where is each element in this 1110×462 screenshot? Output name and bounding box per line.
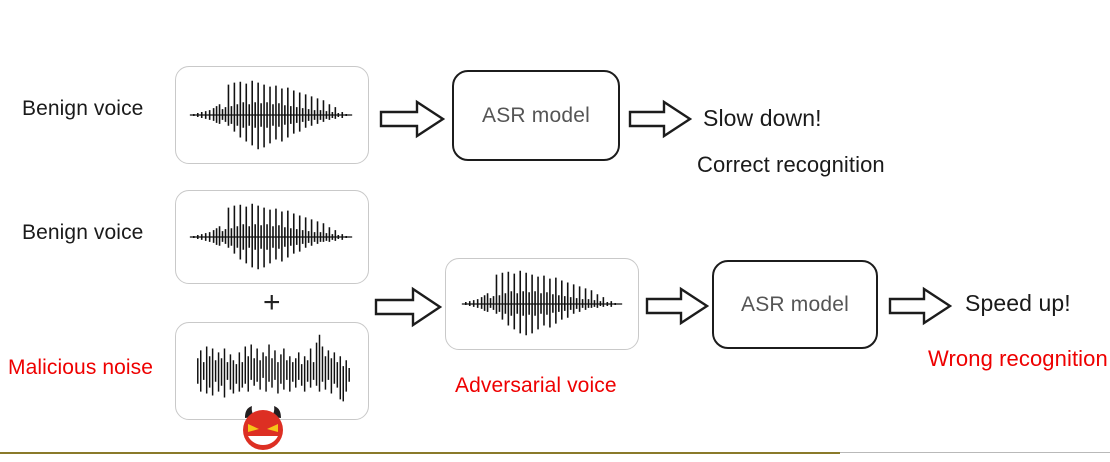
adversarial-voice-waveform-icon [446,259,638,349]
arrow-benign-to-model [379,99,445,139]
plus-operator: + [263,288,281,318]
right-arrow-icon [888,286,952,326]
asr-model-box-bottom[interactable]: ASR model [712,260,878,349]
arrow-adversarial-to-model [645,286,709,326]
arrow-model-to-output [628,99,692,139]
wrong-recognition-label: Wrong recognition [928,347,1108,371]
asr-model-box-top[interactable]: ASR model [452,70,620,161]
right-arrow-icon [645,286,709,326]
arrow-model-to-wrong-output [888,286,952,326]
top-output-label: Slow down! [703,106,822,131]
benign-voice-waveform-icon [176,67,368,163]
asr-model-label-top: ASR model [482,104,590,128]
correct-recognition-label: Correct recognition [697,153,885,177]
devil-face-emoji-icon [238,402,288,452]
arrow-mix-to-adversarial [374,286,442,328]
bottom-rule-gray [840,452,1110,453]
benign-voice-label-top: Benign voice [22,97,143,120]
right-arrow-icon [379,99,445,139]
bottom-rule-olive [0,452,840,454]
right-arrow-icon [628,99,692,139]
benign-voice-waveform-box-top [175,66,369,164]
devil-face-emoji [238,402,288,452]
asr-model-label-bottom: ASR model [741,293,849,317]
benign-voice-waveform-box-bottom [175,190,369,284]
adversarial-voice-label: Adversarial voice [455,374,617,397]
adversarial-voice-waveform-box [445,258,639,350]
bottom-output-label: Speed up! [965,291,1071,316]
malicious-noise-label: Malicious noise [8,356,153,379]
benign-voice-label-bottom: Benign voice [22,221,143,244]
benign-voice-waveform-icon [176,191,368,283]
diagram-canvas: Benign voice [0,0,1110,462]
right-arrow-icon [374,286,442,328]
